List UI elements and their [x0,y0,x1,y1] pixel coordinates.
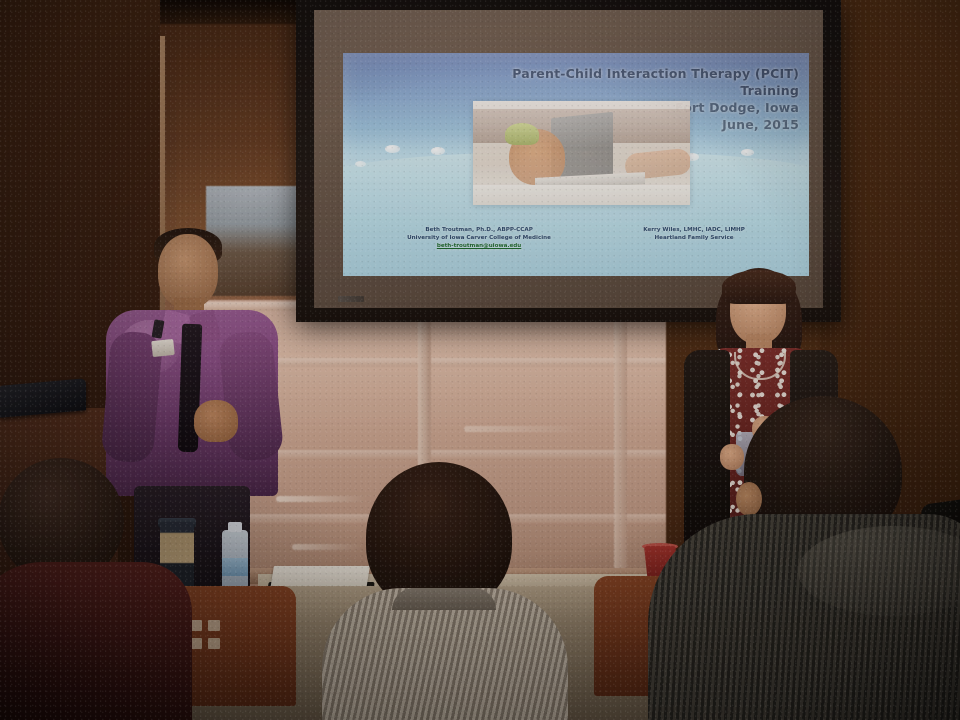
screen-surface: Parent-Child Interaction Therapy (PCIT) … [314,10,823,308]
name-badge [151,339,175,357]
collar [392,588,496,610]
head [158,234,218,308]
presenter-right-credit: Kerry Wiles, LMHC, IADC, LIMHP Heartland… [643,226,745,242]
screen-brand-logo [338,296,364,302]
presentation-slide: Parent-Child Interaction Therapy (PCIT) … [343,53,809,276]
presenter-left-name: Beth Troutman, Ph.D., ABPP-CCAP [407,226,551,234]
audience-member-right [648,396,960,720]
presentation-room-photo: Parent-Child Interaction Therapy (PCIT) … [0,0,960,720]
slide-photo [473,101,690,205]
presenter-left-affiliation: University of Iowa Carver College of Med… [407,234,551,242]
presenter-right-name: Kerry Wiles, LMHC, IADC, LIMHP [643,226,745,234]
slide-bubble-icon [741,149,754,156]
audience-member-left [0,458,192,720]
slide-credits: Beth Troutman, Ph.D., ABPP-CCAP Universi… [343,226,809,250]
presenter-right-affiliation: Heartland Family Service [643,234,745,242]
presenter-left-credit: Beth Troutman, Ph.D., ABPP-CCAP Universi… [407,226,551,250]
slide-bubble-icon [431,147,445,155]
slide-title-line-1: Parent-Child Interaction Therapy (PCIT) … [454,65,799,99]
torso [0,562,192,720]
slide-bubble-icon [355,161,366,167]
presenter-left-email: beth-troutman@uiowa.edu [407,242,551,250]
ear [736,482,762,516]
slide-bubble-icon [385,145,400,153]
audience-member-center [322,462,568,720]
clasped-hands [194,400,238,442]
